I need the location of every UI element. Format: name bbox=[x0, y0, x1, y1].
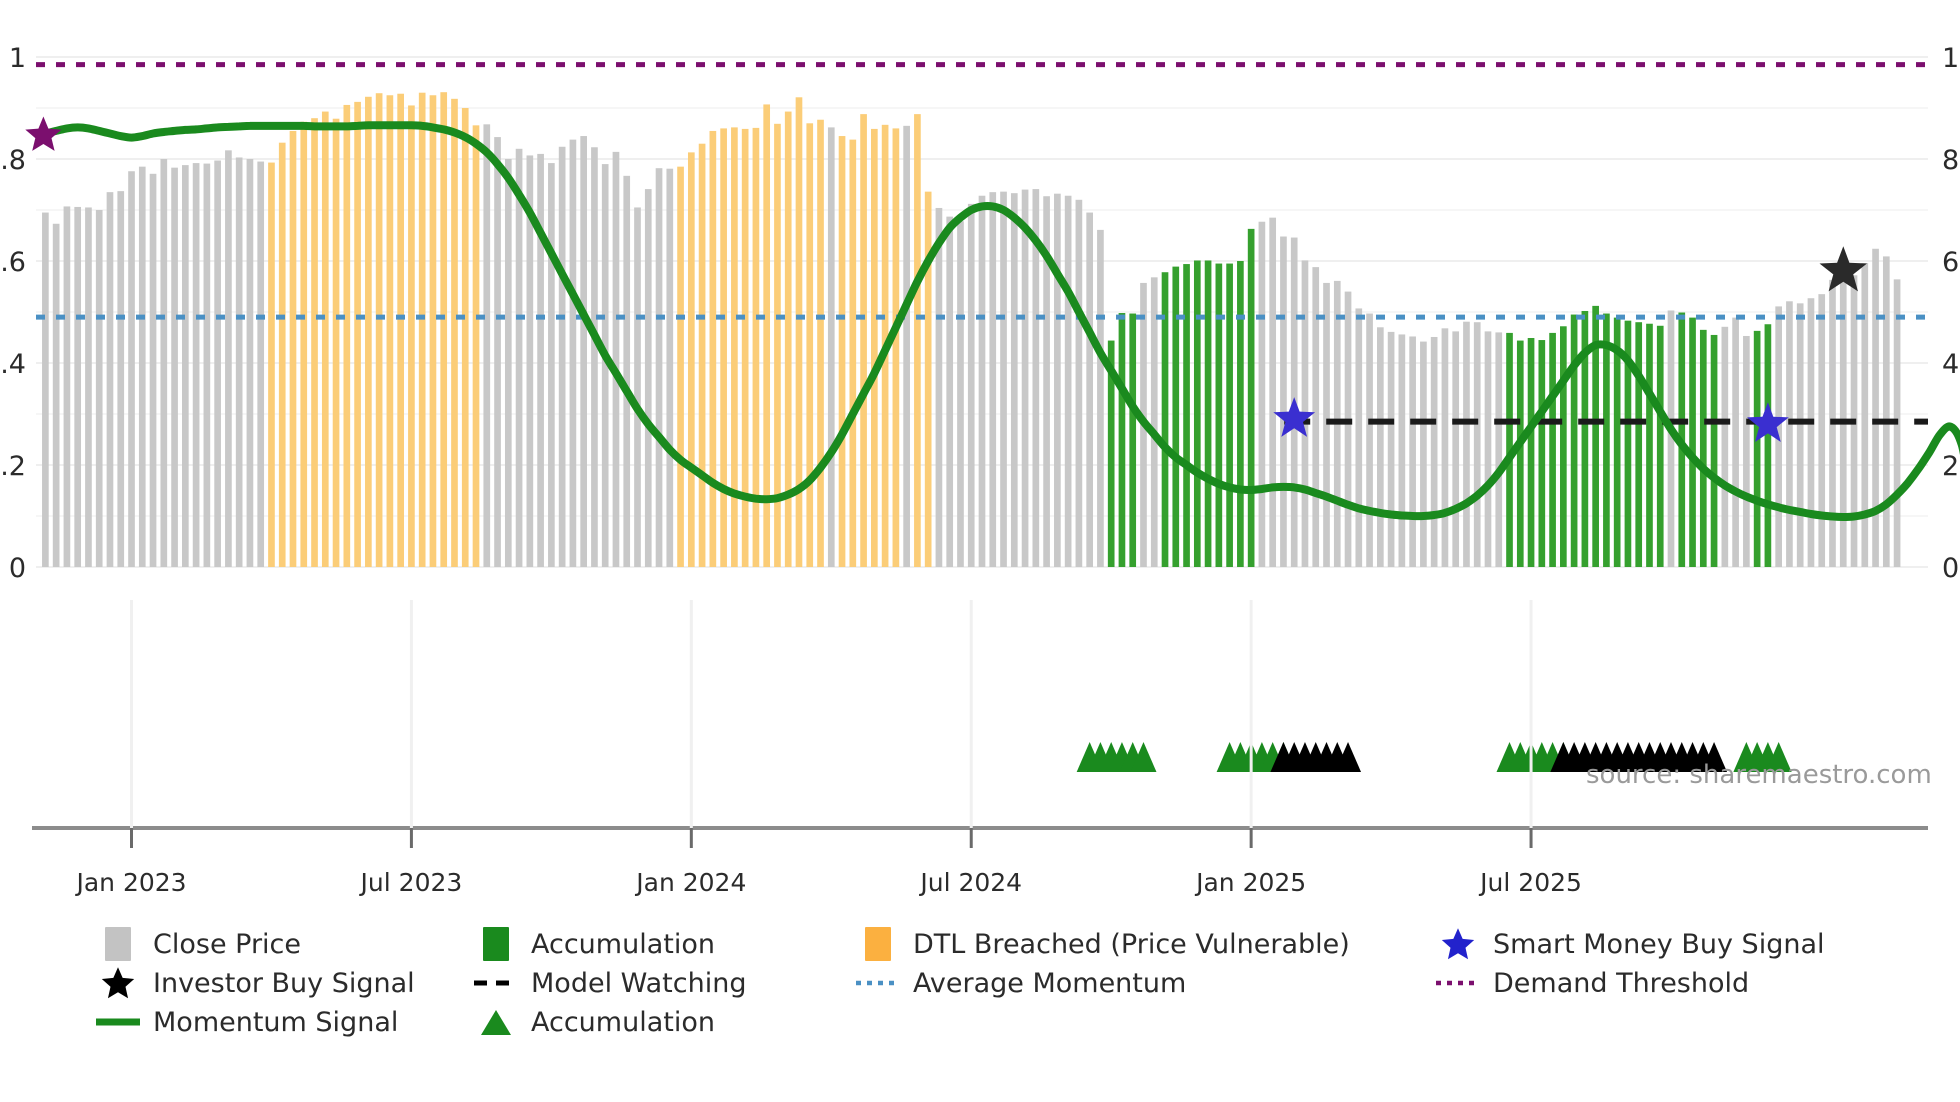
close-price-bar bbox=[1205, 260, 1212, 567]
close-price-bar bbox=[1646, 324, 1653, 567]
close-price-bar bbox=[225, 150, 232, 567]
close-price-bar bbox=[1549, 333, 1556, 567]
legend-item-smart-money-buy-signal[interactable]: Smart Money Buy Signal bbox=[1435, 925, 1825, 963]
close-price-bar bbox=[623, 176, 630, 567]
close-price-bar bbox=[1517, 341, 1524, 567]
close-price-bar bbox=[1119, 313, 1126, 567]
legend-label: DTL Breached (Price Vulnerable) bbox=[913, 929, 1350, 960]
close-price-bar bbox=[731, 127, 738, 567]
close-price-bar bbox=[1129, 314, 1136, 567]
x-axis-tick-label: Jan 2025 bbox=[1194, 868, 1306, 897]
close-price-bar bbox=[849, 140, 856, 567]
close-price-bar bbox=[85, 207, 92, 567]
y-axis-right-label: 20 bbox=[1942, 451, 1960, 482]
legend-item-momentum-signal[interactable]: Momentum Signal bbox=[95, 1003, 473, 1041]
close-price-bar bbox=[451, 99, 458, 567]
close-price-bar bbox=[1603, 314, 1610, 567]
close-price-bar bbox=[1280, 237, 1287, 567]
legend-item-average-momentum[interactable]: Average Momentum bbox=[855, 964, 1435, 1002]
close-price-bar bbox=[817, 120, 824, 567]
close-price-bar bbox=[1495, 332, 1502, 567]
close-price-bar bbox=[580, 136, 587, 567]
star-icon bbox=[95, 965, 141, 1001]
close-price-bar bbox=[268, 163, 275, 567]
close-price-bar bbox=[1011, 193, 1018, 567]
close-price-bar bbox=[365, 97, 372, 567]
close-price-bar bbox=[1345, 292, 1352, 567]
close-price-bar bbox=[656, 168, 663, 567]
close-price-bar bbox=[828, 127, 835, 567]
legend-label: Investor Buy Signal bbox=[153, 968, 415, 999]
close-price-bar bbox=[946, 217, 953, 567]
close-price-bar bbox=[860, 114, 867, 567]
close-price-bar bbox=[666, 169, 673, 567]
close-price-bar bbox=[1721, 327, 1728, 567]
close-price-bar bbox=[796, 97, 803, 567]
close-price-swatch-icon bbox=[95, 927, 141, 961]
close-price-bar bbox=[128, 171, 135, 567]
dotted-line-icon bbox=[855, 978, 901, 988]
close-price-bar bbox=[710, 131, 717, 567]
y-axis-left-label: 0.8 bbox=[0, 145, 26, 176]
close-price-bar bbox=[1409, 336, 1416, 567]
y-axis-left-label: 1 bbox=[9, 43, 26, 74]
close-price-bar bbox=[1065, 196, 1072, 567]
close-price-bar bbox=[1754, 331, 1761, 567]
close-price-bar bbox=[1689, 318, 1696, 567]
close-price-bar bbox=[1022, 190, 1029, 567]
close-price-bar bbox=[1248, 229, 1255, 567]
close-price-bar bbox=[279, 143, 286, 567]
close-price-bar bbox=[925, 192, 932, 567]
x-axis-tick-label: Jan 2024 bbox=[634, 868, 746, 897]
close-price-bar bbox=[570, 140, 577, 567]
close-price-bar bbox=[1538, 340, 1545, 567]
close-price-bar bbox=[1840, 270, 1847, 567]
close-price-bar bbox=[397, 94, 404, 567]
close-price-bar bbox=[1797, 303, 1804, 567]
legend-row-3: Momentum Signal Accumulation bbox=[95, 1003, 1925, 1041]
close-price-bar bbox=[53, 224, 60, 567]
close-price-bar bbox=[483, 124, 490, 567]
close-price-bar bbox=[968, 204, 975, 567]
close-price-bar bbox=[871, 129, 878, 567]
close-price-bar bbox=[343, 105, 350, 567]
close-price-bar bbox=[150, 174, 157, 567]
close-price-bar bbox=[1151, 277, 1158, 567]
close-price-bar bbox=[117, 191, 124, 567]
legend-item-demand-threshold[interactable]: Demand Threshold bbox=[1435, 964, 1749, 1002]
close-price-bar bbox=[311, 118, 318, 567]
close-price-bar bbox=[1194, 260, 1201, 567]
close-price-bar bbox=[171, 168, 178, 567]
close-price-bar bbox=[1312, 267, 1319, 567]
legend-item-model-watching[interactable]: Model Watching bbox=[473, 964, 855, 1002]
close-price-bar bbox=[74, 207, 81, 567]
close-price-bar bbox=[559, 147, 566, 567]
close-price-bar bbox=[1172, 267, 1179, 567]
legend-label: Model Watching bbox=[531, 968, 746, 999]
close-price-bar bbox=[537, 154, 544, 567]
close-price-bar bbox=[699, 144, 706, 567]
legend-label: Demand Threshold bbox=[1493, 968, 1749, 999]
close-price-bar bbox=[989, 192, 996, 567]
close-price-bar bbox=[1442, 328, 1449, 567]
close-price-bar bbox=[979, 196, 986, 567]
legend-item-close-price[interactable]: Close Price bbox=[95, 925, 473, 963]
close-price-bar bbox=[677, 167, 684, 567]
close-price-bar bbox=[322, 112, 329, 567]
legend-label: Close Price bbox=[153, 929, 301, 960]
close-price-bar bbox=[408, 105, 415, 567]
close-price-bar bbox=[1377, 327, 1384, 567]
close-price-bar bbox=[645, 189, 652, 567]
close-price-bar bbox=[1388, 332, 1395, 567]
chart-page: Jan 2023Jul 2023Jan 2024Jul 2024Jan 2025… bbox=[0, 0, 1960, 1102]
close-price-bar bbox=[354, 102, 361, 567]
x-axis-tick-label: Jan 2023 bbox=[74, 868, 186, 897]
close-price-bar bbox=[1183, 264, 1190, 567]
close-price-bar bbox=[1485, 331, 1492, 567]
legend-label: Accumulation bbox=[531, 1007, 715, 1038]
close-price-bar bbox=[473, 125, 480, 567]
close-price-bar bbox=[688, 152, 695, 567]
close-price-bar bbox=[1269, 218, 1276, 567]
close-price-bar bbox=[1732, 318, 1739, 567]
close-price-bar bbox=[1818, 294, 1825, 567]
legend-row-1: Close Price Accumulation DTL Breached (P… bbox=[95, 925, 1925, 963]
close-price-bar bbox=[440, 92, 447, 567]
close-price-bar bbox=[1883, 256, 1890, 567]
close-price-bar bbox=[1054, 194, 1061, 567]
close-price-bar bbox=[1743, 336, 1750, 567]
close-price-bar bbox=[387, 95, 394, 567]
close-price-bar bbox=[236, 157, 243, 567]
close-price-bar bbox=[1226, 264, 1233, 567]
close-price-bar bbox=[957, 221, 964, 567]
close-price-bar bbox=[214, 161, 221, 567]
source-attribution: source: sharemaestro.com bbox=[1586, 760, 1932, 790]
close-price-bar bbox=[1700, 330, 1707, 567]
legend-label: Average Momentum bbox=[913, 968, 1186, 999]
close-price-bar bbox=[419, 93, 426, 567]
close-price-bar bbox=[1657, 326, 1664, 567]
y-axis-right-label: 60 bbox=[1942, 247, 1960, 278]
close-price-bar bbox=[462, 108, 469, 567]
dashed-line-icon bbox=[473, 978, 519, 988]
close-price-bar bbox=[96, 210, 103, 567]
close-price-bar bbox=[1474, 322, 1481, 567]
close-price-bar bbox=[64, 206, 71, 567]
y-axis-left-label: 0 bbox=[9, 553, 26, 584]
triangle-icon bbox=[473, 1007, 519, 1037]
close-price-bar bbox=[806, 123, 813, 567]
close-price-bar bbox=[193, 163, 200, 567]
close-price-bar bbox=[1635, 322, 1642, 567]
close-price-bar bbox=[1216, 264, 1223, 567]
close-price-bar bbox=[1528, 338, 1535, 567]
close-price-bar bbox=[720, 128, 727, 567]
close-price-bar bbox=[1355, 308, 1362, 567]
close-price-bar bbox=[1399, 334, 1406, 567]
close-price-bar bbox=[1086, 213, 1093, 567]
close-price-bar bbox=[505, 159, 512, 567]
close-price-bar bbox=[516, 149, 523, 567]
close-price-bar bbox=[1259, 222, 1266, 567]
close-price-bar bbox=[1420, 342, 1427, 567]
legend-item-investor-buy-signal[interactable]: Investor Buy Signal bbox=[95, 964, 473, 1002]
close-price-bar bbox=[1323, 283, 1330, 567]
close-price-bar bbox=[1711, 335, 1718, 567]
close-price-bar bbox=[430, 95, 437, 567]
close-price-bar bbox=[936, 208, 943, 567]
close-price-bar bbox=[1431, 337, 1438, 567]
dtl-breached-swatch-icon bbox=[855, 927, 901, 961]
close-price-bar bbox=[1000, 192, 1007, 567]
legend-label: Momentum Signal bbox=[153, 1007, 398, 1038]
close-price-bar bbox=[494, 137, 501, 567]
y-axis-right-label: 80 bbox=[1942, 145, 1960, 176]
close-price-bar bbox=[893, 128, 900, 567]
y-axis-right-label: 100 bbox=[1942, 43, 1960, 74]
close-price-bar bbox=[634, 207, 641, 567]
close-price-bar bbox=[613, 152, 620, 567]
close-price-bar bbox=[1463, 322, 1470, 567]
close-price-bar bbox=[1237, 261, 1244, 567]
close-price-bar bbox=[1808, 298, 1815, 567]
close-price-bar bbox=[903, 126, 910, 567]
close-price-bar bbox=[591, 147, 598, 567]
close-price-bar bbox=[300, 122, 307, 567]
x-axis-tick-label: Jul 2024 bbox=[918, 868, 1022, 897]
close-price-bar bbox=[1872, 249, 1879, 567]
close-price-bar bbox=[247, 159, 254, 567]
x-axis-tick-label: Jul 2023 bbox=[359, 868, 463, 897]
star-icon bbox=[1435, 926, 1481, 962]
close-price-bar bbox=[1097, 230, 1104, 567]
close-price-bar bbox=[107, 192, 114, 567]
dotted-line-icon bbox=[1435, 978, 1481, 988]
chart-legend: Close Price Accumulation DTL Breached (P… bbox=[95, 925, 1925, 1042]
close-price-bar bbox=[742, 129, 749, 567]
legend-label: Smart Money Buy Signal bbox=[1493, 929, 1825, 960]
close-price-bar bbox=[1861, 263, 1868, 567]
close-price-bar bbox=[376, 93, 383, 567]
y-axis-right-label: 40 bbox=[1942, 349, 1960, 380]
close-price-bar bbox=[1452, 331, 1459, 567]
close-price-bar bbox=[257, 162, 264, 567]
close-price-bar bbox=[1571, 315, 1578, 567]
close-price-bar bbox=[182, 165, 189, 567]
close-price-bar bbox=[139, 167, 146, 567]
close-price-bar bbox=[548, 163, 555, 567]
legend-row-2: Investor Buy Signal Model Watching Avera… bbox=[95, 964, 1925, 1002]
close-price-bar bbox=[333, 119, 340, 567]
legend-item-dtl-breached[interactable]: DTL Breached (Price Vulnerable) bbox=[855, 925, 1435, 963]
close-price-bar bbox=[839, 136, 846, 567]
y-axis-right-label: 0 bbox=[1942, 553, 1959, 584]
solid-line-icon bbox=[95, 1017, 141, 1027]
close-price-bar bbox=[1786, 301, 1793, 567]
close-price-bar bbox=[1765, 324, 1772, 567]
legend-item-accumulation-triangle[interactable]: Accumulation bbox=[473, 1003, 855, 1041]
close-price-bar bbox=[1076, 200, 1083, 567]
close-price-bar bbox=[290, 131, 297, 567]
y-axis-left-label: 0.4 bbox=[0, 349, 26, 380]
close-price-bar bbox=[1560, 326, 1567, 567]
close-price-bar bbox=[42, 213, 49, 567]
momentum-start-marker-icon bbox=[25, 117, 61, 151]
y-axis-left-label: 0.2 bbox=[0, 451, 26, 482]
legend-item-accumulation-bar[interactable]: Accumulation bbox=[473, 925, 855, 963]
x-axis-tick-label: Jul 2025 bbox=[1478, 868, 1582, 897]
close-price-bar bbox=[160, 159, 167, 567]
close-price-bar bbox=[204, 164, 211, 567]
legend-label: Accumulation bbox=[531, 929, 715, 960]
close-price-bar bbox=[914, 114, 921, 567]
y-axis-left-label: 0.6 bbox=[0, 247, 26, 278]
close-price-bar bbox=[1366, 314, 1373, 567]
accumulation-swatch-icon bbox=[473, 927, 519, 961]
